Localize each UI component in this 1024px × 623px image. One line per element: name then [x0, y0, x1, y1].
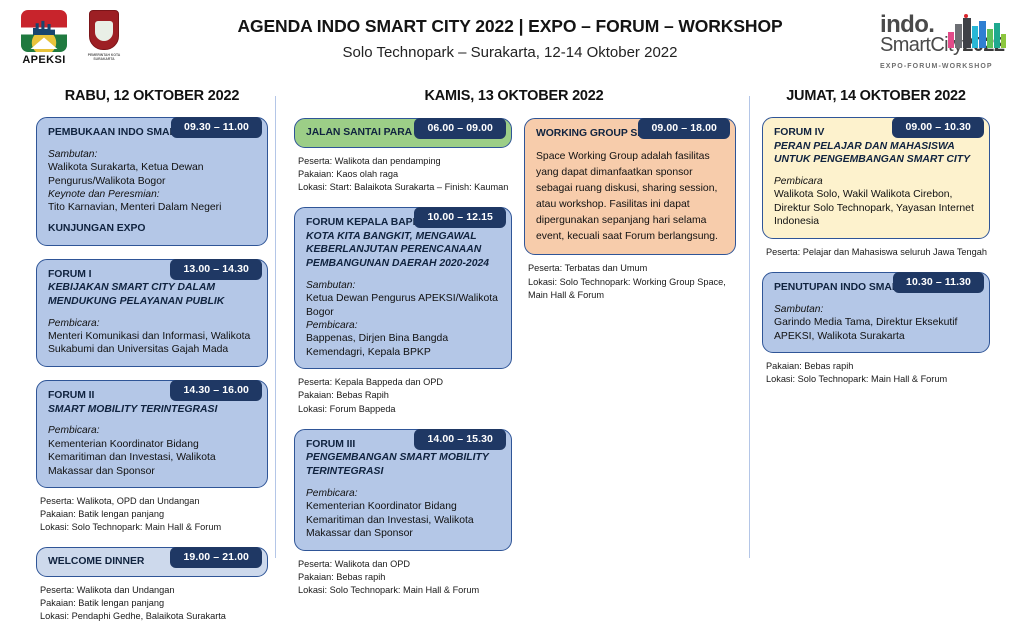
session-jalan-santai[interactable]: 06.00 – 09.00 JALAN SANTAI PARA WALIKOTA…	[294, 118, 512, 194]
page-header: APEKSI PEMERINTAH KOTA SURAKARTA AGENDA …	[0, 0, 1024, 88]
left-logos: APEKSI PEMERINTAH KOTA SURAKARTA	[18, 10, 124, 66]
surakarta-city-logo: PEMERINTAH KOTA SURAKARTA	[84, 10, 124, 62]
surakarta-logo-label: PEMERINTAH KOTA SURAKARTA	[84, 53, 124, 62]
meta-lokasi: Lokasi: Solo Technopark: Main Hall & For…	[298, 584, 512, 597]
session-pembukaan[interactable]: 09.30 – 11.00 PEMBUKAAN INDO SMART CITY …	[36, 117, 268, 246]
meta-peserta: Peserta: Terbatas dan Umum	[528, 262, 736, 275]
session-body-1: Kementerian Koordinator Bidang Kemaritim…	[306, 500, 500, 541]
session-label-1: Pembicara	[774, 175, 978, 188]
session-meta: Peserta: Walikota dan OPD Pakaian: Bebas…	[294, 558, 512, 597]
session-welcome-dinner[interactable]: 19.00 – 21.00 WELCOME DINNER Peserta: Wa…	[36, 547, 268, 623]
page-subtitle: Solo Technopark – Surakarta, 12-14 Oktob…	[180, 44, 840, 61]
city-skyline-icon	[946, 14, 1008, 48]
session-meta: Peserta: Pelajar dan Mahasiswa seluruh J…	[762, 246, 990, 259]
apeksi-emblem-icon	[21, 10, 67, 52]
session-label-1: Pembicara:	[48, 424, 256, 437]
meta-lokasi: Lokasi: Solo Technopark: Main Hall & For…	[40, 521, 268, 534]
column-rabu: RABU, 12 OKTOBER 2022 09.30 – 11.00 PEMB…	[36, 88, 268, 623]
meta-lokasi: Lokasi: Pendaphi Gedhe, Balaikota Suraka…	[40, 610, 268, 623]
meta-lokasi: Lokasi: Solo Technopark: Working Group S…	[528, 276, 736, 302]
session-label-1: Sambutan:	[48, 148, 256, 161]
session-body-2: Bappenas, Dirjen Bina Bangda Kemendagri,…	[306, 332, 500, 359]
session-label-1: Pembicara:	[48, 317, 256, 330]
session-subtitle: SMART MOBILITY TERINTEGRASI	[48, 403, 256, 417]
meta-pakaian: Pakaian: Batik lengan panjang	[40, 597, 268, 610]
meta-lokasi: Lokasi: Forum Bappeda	[298, 403, 512, 416]
session-meta: Peserta: Walikota dan Undangan Pakaian: …	[36, 584, 268, 623]
column-title-rabu: RABU, 12 OKTOBER 2022	[36, 88, 268, 104]
session-penutupan[interactable]: 10.30 – 11.30 PENUTUPAN INDO SMART CITY …	[762, 272, 990, 386]
session-label-1: Pembicara:	[306, 487, 500, 500]
session-label-1: Sambutan:	[774, 303, 978, 316]
meta-peserta: Peserta: Walikota, OPD dan Undangan	[40, 495, 268, 508]
column-divider-1	[275, 96, 276, 558]
time-badge: 09.00 – 10.30	[892, 117, 984, 138]
session-meta: Peserta: Walikota dan pendamping Pakaian…	[294, 155, 512, 194]
session-body-2: Tito Karnavian, Menteri Dalam Negeri	[48, 201, 256, 215]
time-badge: 09.00 – 18.00	[638, 118, 730, 139]
column-working-group: 09.00 – 18.00 WORKING GROUP SPONSOR Spac…	[524, 88, 736, 302]
session-heading-2: KUNJUNGAN EXPO	[48, 222, 256, 236]
session-subtitle: PERAN PELAJAR DAN MAHASISWA UNTUK PENGEM…	[774, 140, 978, 167]
time-badge: 14.30 – 16.00	[170, 380, 262, 401]
column-jumat: JUMAT, 14 OKTOBER 2022 09.00 – 10.30 FOR…	[762, 88, 990, 386]
session-meta: Pakaian: Bebas rapih Lokasi: Solo Techno…	[762, 360, 990, 386]
time-badge: 19.00 – 21.00	[170, 547, 262, 568]
meta-pakaian: Pakaian: Bebas rapih	[298, 571, 512, 584]
indo-logo-tagline: EXPO-FORUM-WORKSHOP	[880, 63, 1010, 70]
session-label-1: Sambutan:	[306, 279, 500, 292]
session-working-group-sponsor[interactable]: 09.00 – 18.00 WORKING GROUP SPONSOR Spac…	[524, 118, 736, 302]
time-badge: 09.30 – 11.00	[171, 117, 262, 138]
session-body-1: Menteri Komunikasi dan Informasi, Waliko…	[48, 330, 256, 357]
apeksi-logo: APEKSI	[18, 10, 70, 66]
time-badge: 13.00 – 14.30	[170, 259, 262, 280]
session-meta: Peserta: Terbatas dan Umum Lokasi: Solo …	[524, 262, 736, 301]
meta-pakaian: Pakaian: Bebas Rapih	[298, 389, 512, 402]
meta-lokasi: Lokasi: Start: Balaikota Surakarta – Fin…	[298, 181, 512, 194]
session-label-2: Pembicara:	[306, 319, 500, 332]
time-badge: 10.30 – 11.30	[893, 272, 984, 293]
time-badge: 10.00 – 12.15	[414, 207, 506, 228]
session-subtitle: KOTA KITA BANGKIT, MENGAWAL KEBERLANJUTA…	[306, 230, 500, 271]
indo-smart-city-logo: indo. SmartCity2022 EXPO-FORUM-WORKSHOP	[880, 14, 1010, 70]
session-body-1: Walikota Surakarta, Ketua Dewan Pengurus…	[48, 161, 256, 188]
column-divider-2	[749, 96, 750, 558]
agenda-columns: RABU, 12 OKTOBER 2022 09.30 – 11.00 PEMB…	[0, 88, 1024, 576]
title-block: AGENDA INDO SMART CITY 2022 | EXPO – FOR…	[180, 16, 840, 61]
session-body-1: Ketua Dewan Pengurus APEKSI/Walikota Bog…	[306, 292, 500, 319]
meta-lokasi: Lokasi: Solo Technopark: Main Hall & For…	[766, 373, 990, 386]
meta-peserta: Peserta: Pelajar dan Mahasiswa seluruh J…	[766, 246, 990, 259]
meta-peserta: Peserta: Walikota dan OPD	[298, 558, 512, 571]
session-subtitle: PENGEMBANGAN SMART MOBILITY TERINTEGRASI	[306, 451, 500, 478]
session-forum-kepala-bappeda[interactable]: 10.00 – 12.15 FORUM KEPALA BAPPEDA KOTA …	[294, 207, 512, 416]
session-forum-i[interactable]: 13.00 – 14.30 FORUM I KEBIJAKAN SMART CI…	[36, 259, 268, 367]
session-forum-iii[interactable]: 14.00 – 15.30 FORUM III PENGEMBANGAN SMA…	[294, 429, 512, 597]
meta-pakaian: Pakaian: Batik lengan panjang	[40, 508, 268, 521]
spacer	[48, 215, 256, 222]
meta-pakaian: Pakaian: Kaos olah raga	[298, 168, 512, 181]
column-title-jumat: JUMAT, 14 OKTOBER 2022	[762, 88, 990, 104]
meta-peserta: Peserta: Kepala Bappeda dan OPD	[298, 376, 512, 389]
session-subtitle: KEBIJAKAN SMART CITY DALAM MENDUKUNG PEL…	[48, 281, 256, 308]
time-badge: 14.00 – 15.30	[414, 429, 506, 450]
meta-peserta: Peserta: Walikota dan Undangan	[40, 584, 268, 597]
session-body-1: Garindo Media Tama, Direktur Eksekutif A…	[774, 316, 978, 343]
session-body-1: Walikota Solo, Wakil Walikota Cirebon, D…	[774, 188, 978, 229]
session-body-1: Kementerian Koordinator Bidang Kemaritim…	[48, 438, 256, 479]
session-forum-iv[interactable]: 09.00 – 10.30 FORUM IV PERAN PELAJAR DAN…	[762, 117, 990, 259]
session-card[interactable]: FORUM KEPALA BAPPEDA KOTA KITA BANGKIT, …	[294, 207, 512, 370]
surakarta-shield-icon	[89, 10, 119, 50]
session-paragraph: Space Working Group adalah fasilitas yan…	[536, 149, 724, 246]
session-meta: Peserta: Walikota, OPD dan Undangan Paka…	[36, 495, 268, 534]
session-forum-ii[interactable]: 14.30 – 16.00 FORUM II SMART MOBILITY TE…	[36, 380, 268, 534]
session-meta: Peserta: Kepala Bappeda dan OPD Pakaian:…	[294, 376, 512, 415]
meta-peserta: Peserta: Walikota dan pendamping	[298, 155, 512, 168]
time-badge: 06.00 – 09.00	[414, 118, 506, 139]
column-kamis: KAMIS, 13 OKTOBER 2022 06.00 – 09.00 JAL…	[294, 88, 512, 597]
page-title: AGENDA INDO SMART CITY 2022 | EXPO – FOR…	[180, 16, 840, 37]
session-label-2: Keynote dan Peresmian:	[48, 188, 256, 201]
apeksi-logo-label: APEKSI	[18, 54, 70, 66]
meta-pakaian: Pakaian: Bebas rapih	[766, 360, 990, 373]
